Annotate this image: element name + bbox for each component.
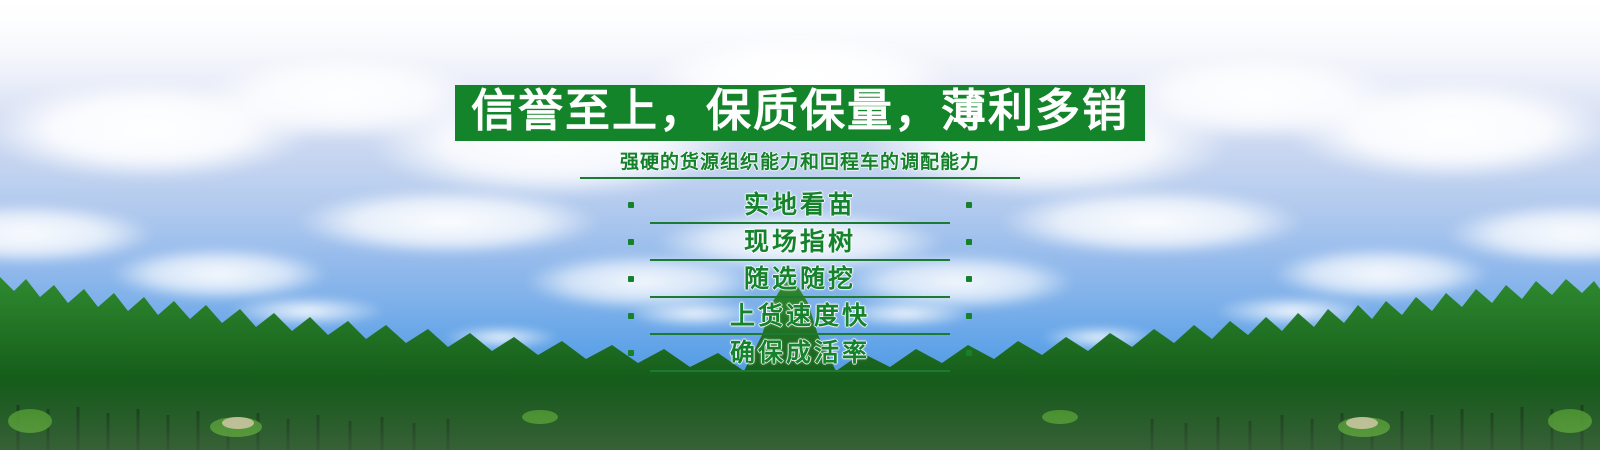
banner-content: 信誉至上，保质保量，薄利多销 强硬的货源组织能力和回程车的调配能力 实地看苗 现…	[0, 0, 1600, 372]
feature-label: 随选随挖	[744, 264, 856, 293]
dot-marker-icon	[966, 313, 972, 319]
dot-marker-icon	[966, 350, 972, 356]
feature-item: 确保成活率	[650, 335, 950, 372]
dot-marker-icon	[628, 350, 634, 356]
promo-banner: 信誉至上，保质保量，薄利多销 强硬的货源组织能力和回程车的调配能力 实地看苗 现…	[0, 0, 1600, 450]
dot-marker-icon	[966, 239, 972, 245]
feature-label: 上货速度快	[730, 301, 870, 330]
dot-marker-icon	[628, 239, 634, 245]
dot-marker-icon	[966, 202, 972, 208]
feature-item: 随选随挖	[650, 261, 950, 298]
feature-list: 实地看苗 现场指树 随选随挖 上货速度快 确保成活率	[650, 187, 950, 372]
feature-item: 现场指树	[650, 224, 950, 261]
dot-marker-icon	[628, 313, 634, 319]
feature-label: 确保成活率	[730, 338, 870, 367]
headline-text: 信誉至上，保质保量，薄利多销	[471, 87, 1129, 135]
feature-label: 实地看苗	[744, 190, 856, 219]
dot-marker-icon	[628, 276, 634, 282]
dot-marker-icon	[628, 202, 634, 208]
dot-marker-icon	[966, 276, 972, 282]
headline-banner: 信誉至上，保质保量，薄利多销	[455, 85, 1145, 141]
feature-item: 实地看苗	[650, 187, 950, 224]
subtitle-text: 强硬的货源组织能力和回程车的调配能力	[580, 149, 1020, 179]
feature-label: 现场指树	[744, 227, 856, 256]
feature-item: 上货速度快	[650, 298, 950, 335]
